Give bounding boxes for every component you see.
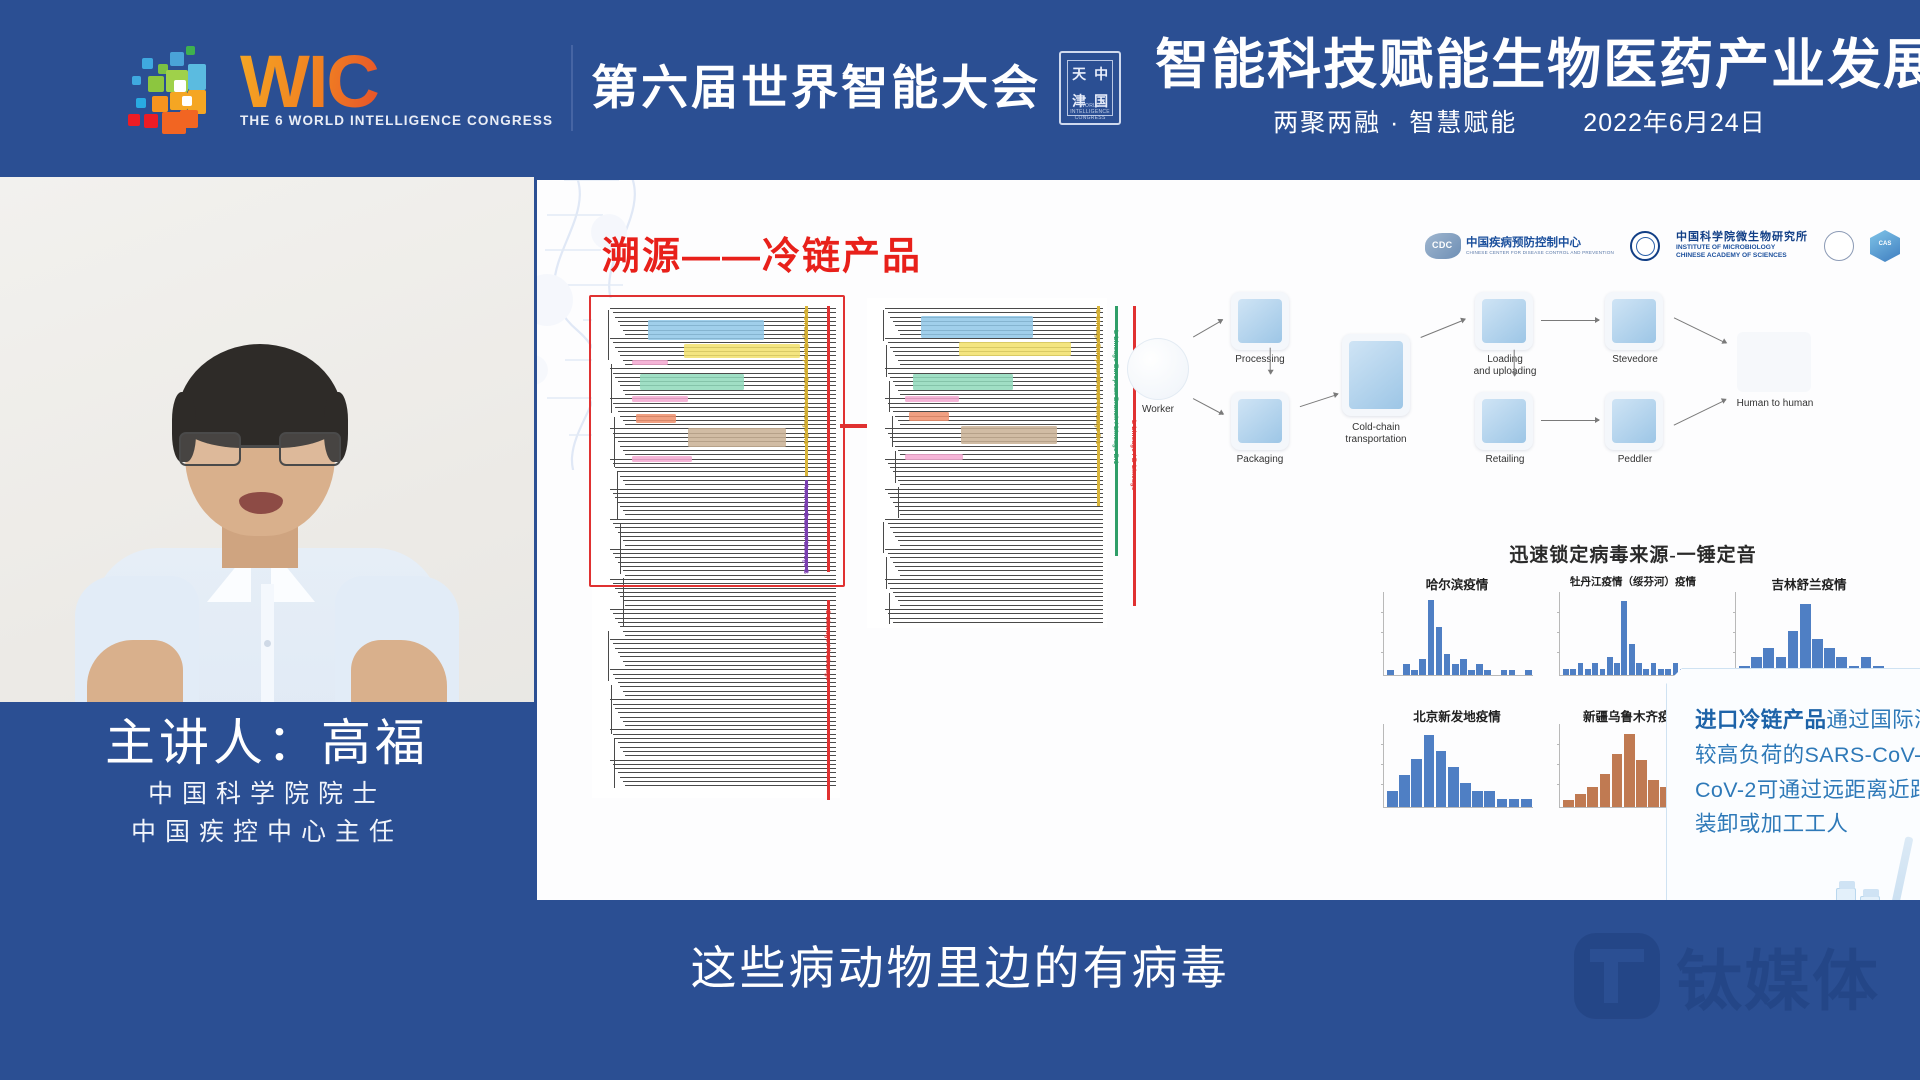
logo-pixel bbox=[144, 114, 158, 128]
crowd-node-icon bbox=[1737, 332, 1811, 392]
tree-leaf-label bbox=[888, 463, 1104, 464]
retailing-node-icon bbox=[1475, 392, 1533, 450]
summit-slogan: 两聚两融 · 智慧赋能 bbox=[1273, 103, 1517, 139]
tree-leaf-label bbox=[895, 446, 1103, 447]
secondary-seal-icon bbox=[1824, 231, 1854, 261]
flow-label-packaging: Packaging bbox=[1217, 454, 1303, 466]
tree-leaf-label bbox=[613, 613, 837, 614]
epi-bar bbox=[1587, 787, 1598, 807]
flow-label-processing: Processing bbox=[1217, 354, 1303, 366]
cdc-name-en: CHINESE CENTER FOR DISEASE CONTROL AND P… bbox=[1466, 250, 1614, 255]
tree-branch bbox=[611, 685, 612, 735]
epi-bar bbox=[1612, 754, 1623, 807]
lineage-bar bbox=[827, 306, 830, 572]
tmtpost-logo-icon bbox=[1574, 933, 1660, 1019]
tree-leaf-label bbox=[610, 760, 836, 761]
axis-tick bbox=[1557, 764, 1560, 765]
presentation-slide[interactable]: 溯源——冷链产品 CDC 中国疾病预防控制中心 CHINESE CENTER F… bbox=[537, 180, 1920, 940]
tree-leaf-label bbox=[895, 566, 1103, 567]
tree-branch bbox=[886, 557, 887, 588]
epi-caption-1: 牡丹江疫情（绥芬河）疫情 bbox=[1553, 574, 1713, 589]
logo-pixel bbox=[170, 52, 184, 66]
tree-leaf-label bbox=[618, 742, 837, 743]
epi-bar bbox=[1452, 664, 1459, 675]
lineage-label-1: America Branch / Lineage B bbox=[802, 484, 809, 574]
tree-clade-highlight bbox=[684, 344, 800, 358]
epi-caption-0: 哈尔滨疫情 bbox=[1377, 574, 1537, 593]
tree-branch bbox=[883, 522, 884, 553]
logo-pixel bbox=[142, 58, 153, 69]
tree-leaf-label bbox=[900, 605, 1103, 606]
epi-bar bbox=[1600, 669, 1606, 675]
flow-label-peddler: Peddler bbox=[1591, 454, 1679, 466]
epi-bar bbox=[1600, 774, 1611, 807]
packaging-node-icon bbox=[1231, 392, 1289, 450]
glasses-icon bbox=[179, 432, 341, 466]
tree-leaf-label bbox=[900, 575, 1103, 576]
tree-branch bbox=[614, 738, 615, 788]
tree-leaf-label bbox=[888, 403, 1104, 404]
epi-chart-1: 牡丹江疫情（绥芬河）疫情 bbox=[1553, 574, 1713, 682]
tianjin-emblem: 天 中 津 国 WORLD INTELLIGENCE CONGRESS bbox=[1059, 51, 1121, 125]
epi-bar bbox=[1636, 760, 1647, 807]
tree-branch bbox=[623, 578, 624, 628]
tree-clade-highlight bbox=[640, 374, 744, 390]
tree-leaf-label bbox=[895, 506, 1103, 507]
header-divider bbox=[571, 45, 573, 131]
subtitle-bar: 这些病动物里边的有病毒 钛媒体 bbox=[0, 900, 1920, 1080]
epi-bar bbox=[1476, 664, 1483, 675]
epi-chart-3: 北京新发地疫情 bbox=[1377, 706, 1537, 814]
axis-tick bbox=[1381, 632, 1384, 633]
epi-bar bbox=[1800, 604, 1811, 675]
axis-tick bbox=[1381, 744, 1384, 745]
institute-name-en2: CHINESE ACADEMY OF SCIENCES bbox=[1676, 252, 1808, 260]
tree-leaf-label bbox=[893, 502, 1104, 503]
epi-bar bbox=[1424, 735, 1435, 807]
epi-bar bbox=[1636, 663, 1642, 675]
tree-leaf-label bbox=[613, 463, 837, 464]
epi-bar bbox=[1525, 670, 1532, 675]
tree-leaf-label bbox=[613, 583, 837, 584]
epi-bar bbox=[1592, 663, 1598, 675]
tree-leaf-label bbox=[615, 738, 836, 739]
tree-branch bbox=[620, 524, 621, 574]
conference-name-cn: 第六届世界智能大会 bbox=[591, 63, 1041, 112]
epi-plot-2 bbox=[1735, 592, 1885, 676]
speaker-name: 主讲人：高福 bbox=[0, 712, 534, 775]
tree-leaf-label bbox=[615, 768, 836, 769]
epi-plot-1 bbox=[1559, 592, 1709, 676]
tree-leaf-label bbox=[618, 772, 837, 773]
epi-bar bbox=[1651, 663, 1657, 675]
tree-leaf-label bbox=[890, 407, 1103, 408]
tree-leaf-label bbox=[898, 510, 1104, 511]
tree-clade-highlight bbox=[632, 396, 688, 402]
tree-leaf-label bbox=[888, 493, 1104, 494]
flow-label-human: Human to human bbox=[1721, 398, 1829, 410]
epi-bar bbox=[1497, 799, 1508, 807]
flow-arrow bbox=[1541, 320, 1599, 321]
tmtpost-watermark: 钛媒体 bbox=[1574, 928, 1880, 1024]
tree-leaf-label bbox=[610, 699, 836, 700]
institute-name-cn: 中国科学院微生物研究所 bbox=[1676, 231, 1808, 244]
axis-tick bbox=[1381, 652, 1384, 653]
tree-leaf-label bbox=[888, 312, 1104, 313]
axis-tick bbox=[1381, 784, 1384, 785]
screen-root: WIC THE 6 WORLD INTELLIGENCE CONGRESS 第六… bbox=[0, 0, 1920, 1080]
cas-hex-icon bbox=[1870, 230, 1900, 262]
tree-leaf-label bbox=[620, 476, 836, 477]
tree-leaf-label bbox=[618, 652, 837, 653]
tree-leaf-label bbox=[625, 755, 836, 756]
tree-leaf-label bbox=[618, 592, 837, 593]
axis-tick bbox=[1557, 784, 1560, 785]
tree-leaf-label bbox=[900, 514, 1103, 515]
tree-leaf-label bbox=[620, 596, 836, 597]
wic-logo bbox=[118, 42, 222, 134]
epi-bar bbox=[1444, 654, 1451, 675]
tree-leaf-label bbox=[615, 618, 836, 619]
speaker-role-2: 中国疾控中心主任 bbox=[0, 813, 534, 852]
tree-leaf-label bbox=[623, 631, 837, 632]
tree-leaf-label bbox=[625, 605, 836, 606]
tree-leaf-label bbox=[625, 665, 836, 666]
logo-pixel bbox=[182, 96, 192, 106]
tree-clade-highlight bbox=[636, 414, 676, 423]
tree-leaf-label bbox=[893, 471, 1104, 472]
tree-leaf-label bbox=[890, 588, 1103, 589]
summit-title-block: 智能科技赋能生物医药产业发展峰会 两聚两融 · 智慧赋能 2022年6月24日 bbox=[1155, 36, 1920, 138]
tree-leaf-label bbox=[618, 682, 837, 683]
tianjin-caption: WORLD INTELLIGENCE CONGRESS bbox=[1061, 103, 1119, 121]
flow-arrow bbox=[1513, 350, 1514, 376]
china-cdc-logo: CDC 中国疾病预防控制中心 CHINESE CENTER FOR DISEAS… bbox=[1425, 233, 1614, 259]
tree-leaf-label bbox=[620, 656, 836, 657]
lineage-label-2b: L-Lineage European Branch / Lineage B.1 bbox=[1112, 330, 1119, 464]
epi-bar bbox=[1629, 644, 1635, 675]
tree-leaf-label bbox=[895, 596, 1103, 597]
tree-branch bbox=[883, 310, 884, 341]
wic-subtitle: THE 6 WORLD INTELLIGENCE CONGRESS bbox=[240, 113, 553, 128]
epi-plot-3 bbox=[1383, 724, 1533, 808]
tree-clade-highlight bbox=[632, 456, 692, 462]
summit-date: 2022年6月24日 bbox=[1583, 103, 1765, 139]
tree-leaf-label bbox=[623, 450, 837, 451]
worker-node-icon bbox=[1127, 338, 1189, 400]
tree-leaf-label bbox=[893, 532, 1104, 533]
epi-bar bbox=[1665, 669, 1671, 675]
epi-bar bbox=[1403, 664, 1410, 675]
epi-bar bbox=[1460, 783, 1471, 807]
tree-leaf-label bbox=[898, 360, 1104, 361]
tree-branch bbox=[892, 416, 893, 447]
epi-bar bbox=[1448, 767, 1459, 807]
tree-leaf-label bbox=[885, 489, 1103, 490]
tree-leaf-label bbox=[885, 549, 1103, 550]
tree-branch bbox=[617, 471, 618, 521]
callout-text: 进口冷链产品通过国际海洋渔业贸易受到较高负荷的SARS-CoV-2污染，SARS… bbox=[1695, 703, 1920, 842]
tree-leaf-label bbox=[618, 712, 837, 713]
epi-bar bbox=[1521, 799, 1532, 807]
event-header-banner: WIC THE 6 WORLD INTELLIGENCE CONGRESS 第六… bbox=[0, 0, 1920, 175]
epi-bar bbox=[1387, 791, 1398, 807]
tree-leaf-label bbox=[898, 450, 1104, 451]
cdc-abbr: CDC bbox=[1432, 240, 1452, 250]
callout-lead: 进口冷链产品 bbox=[1695, 708, 1826, 732]
epi-chart-2: 吉林舒兰疫情 bbox=[1729, 574, 1889, 682]
tree-leaf-label bbox=[620, 626, 836, 627]
tree-leaf-label bbox=[893, 622, 1104, 623]
epi-bar bbox=[1468, 670, 1475, 675]
epi-caption-3: 北京新发地疫情 bbox=[1377, 706, 1537, 725]
logo-pixel bbox=[152, 96, 168, 112]
logo-pixel bbox=[174, 80, 186, 92]
epi-bar bbox=[1509, 799, 1520, 807]
epi-bar bbox=[1509, 670, 1516, 675]
epi-bar bbox=[1563, 800, 1574, 807]
tree-leaf-label bbox=[890, 527, 1103, 528]
axis-tick bbox=[1733, 612, 1736, 613]
tree-leaf-label bbox=[898, 540, 1104, 541]
epi-bar bbox=[1399, 775, 1410, 807]
wic-word: WIC bbox=[240, 47, 553, 117]
slide-title: 溯源——冷链产品 bbox=[602, 225, 922, 280]
flow-label-transport: Cold-chain transportation bbox=[1327, 422, 1425, 445]
tree-leaf-label bbox=[610, 639, 836, 640]
institute-seal-icon bbox=[1630, 231, 1660, 261]
epidemic-section-title: 迅速锁定病毒来源-一锤定音 bbox=[1377, 540, 1889, 567]
tree-leaf-label bbox=[610, 729, 836, 730]
tree-branch bbox=[608, 631, 609, 681]
tree-leaf-label bbox=[623, 661, 837, 662]
flow-arrow bbox=[1193, 398, 1224, 415]
tree-clade-highlight bbox=[961, 426, 1057, 444]
tianjin-char-1: 天 bbox=[1068, 61, 1090, 88]
tree-leaf-label bbox=[888, 583, 1104, 584]
tree-leaf-label bbox=[900, 545, 1103, 546]
epi-bar bbox=[1624, 734, 1635, 807]
tree-leaf-label bbox=[618, 622, 837, 623]
tree-leaf-label bbox=[623, 600, 837, 601]
flow-arrow bbox=[1300, 394, 1338, 408]
tree-leaf-label bbox=[890, 497, 1103, 498]
tree-clade-highlight bbox=[909, 412, 949, 421]
flow-arrow bbox=[1674, 399, 1727, 426]
epi-bar bbox=[1658, 669, 1664, 675]
epi-bar bbox=[1460, 659, 1467, 675]
tree-leaf-label bbox=[890, 557, 1103, 558]
tree-clade-highlight bbox=[905, 396, 959, 402]
tree-leaf-label bbox=[885, 579, 1103, 580]
loading-node-icon bbox=[1475, 292, 1533, 350]
tree-leaf-label bbox=[625, 695, 836, 696]
tree-leaf-label bbox=[618, 471, 837, 472]
epi-bar bbox=[1411, 670, 1418, 675]
logo-pixel bbox=[148, 76, 164, 92]
tree-leaf-label bbox=[885, 338, 1103, 339]
cold-chain-flowchart: Worker Processing Packaging Cold-chain t… bbox=[1127, 288, 1897, 488]
epi-bar bbox=[1428, 600, 1435, 675]
logo-pixel bbox=[188, 64, 206, 90]
axis-tick bbox=[1733, 632, 1736, 633]
epi-bar bbox=[1614, 663, 1620, 675]
tree-leaf-label bbox=[620, 717, 836, 718]
tree-leaf-label bbox=[625, 575, 836, 576]
tree-clade-highlight bbox=[648, 320, 764, 340]
tree-branch bbox=[886, 345, 887, 376]
stevedore-node-icon bbox=[1605, 292, 1663, 350]
axis-tick bbox=[1557, 744, 1560, 745]
epi-bar bbox=[1411, 759, 1422, 807]
tree-leaf-label bbox=[615, 467, 836, 468]
tree-branch bbox=[889, 381, 890, 412]
tree-leaf-label bbox=[623, 691, 837, 692]
transport-node-icon bbox=[1342, 334, 1410, 416]
tree-leaf-label bbox=[615, 678, 836, 679]
lineage-label-2: L-Lineage European Branch / Lineage B.1 bbox=[1094, 310, 1101, 444]
tree-branch bbox=[611, 364, 612, 414]
axis-tick bbox=[1733, 652, 1736, 653]
conference-name-block: 第六届世界智能大会 bbox=[591, 63, 1041, 112]
institute-microbiology-logo: 中国科学院微生物研究所 INSTITUTE OF MICROBIOLOGY CH… bbox=[1676, 231, 1808, 260]
tree-leaf-label bbox=[898, 570, 1104, 571]
epi-bar bbox=[1570, 669, 1576, 675]
tree-leaf-label bbox=[885, 308, 1103, 309]
tree-leaf-label bbox=[613, 704, 837, 705]
axis-tick bbox=[1557, 632, 1560, 633]
flow-arrow bbox=[1269, 348, 1270, 374]
tree-leaf-label bbox=[900, 364, 1103, 365]
summit-title: 智能科技赋能生物医药产业发展峰会 bbox=[1155, 36, 1920, 94]
epi-bar bbox=[1578, 663, 1584, 675]
epi-bar bbox=[1648, 780, 1659, 807]
tree-clade-highlight bbox=[632, 360, 668, 365]
tree-leaf-label bbox=[893, 562, 1104, 563]
tree-leaf-label bbox=[613, 734, 837, 735]
lineage-label-0: L-Lineage European Branch / Lineage B.1 bbox=[802, 310, 809, 444]
flow-label-loading: Loading and uploading bbox=[1457, 354, 1553, 377]
axis-tick bbox=[1557, 612, 1560, 613]
epi-bar bbox=[1472, 791, 1483, 807]
logo-pixel bbox=[132, 76, 141, 85]
lineage-label-4: S-Lineage / A-Lineage bbox=[824, 610, 831, 681]
tree-clade-highlight bbox=[921, 316, 1033, 338]
phylogenetic-tree-right bbox=[867, 298, 1107, 628]
tree-leaf-label bbox=[885, 519, 1103, 520]
tree-leaf-label bbox=[898, 480, 1104, 481]
logo-pixel bbox=[136, 98, 146, 108]
flow-arrow bbox=[1193, 320, 1223, 338]
processing-node-icon bbox=[1231, 292, 1289, 350]
tree-leaf-label bbox=[613, 764, 837, 765]
epi-bar bbox=[1563, 669, 1569, 675]
tree-leaf-label bbox=[895, 476, 1103, 477]
tmtpost-wordmark: 钛媒体 bbox=[1676, 928, 1880, 1024]
shirt-button bbox=[264, 640, 271, 647]
tianjin-char-2: 中 bbox=[1090, 61, 1112, 88]
tree-leaf-label bbox=[610, 308, 836, 309]
epi-chart-0: 哈尔滨疫情 bbox=[1377, 574, 1537, 682]
epi-plot-0 bbox=[1383, 592, 1533, 676]
tree-leaf-label bbox=[623, 480, 837, 481]
tree-leaf-label bbox=[888, 613, 1104, 614]
tree-branch bbox=[608, 310, 609, 360]
flow-arrow bbox=[1420, 319, 1465, 338]
tree-leaf-label bbox=[625, 725, 836, 726]
epi-bar bbox=[1575, 794, 1586, 807]
epi-bar bbox=[1419, 659, 1426, 675]
logo-pixel bbox=[128, 114, 140, 126]
tree-leaf-label bbox=[620, 747, 836, 748]
tree-clade-highlight bbox=[913, 374, 1013, 390]
flow-label-retailing: Retailing bbox=[1461, 454, 1549, 466]
epi-bar bbox=[1501, 670, 1508, 675]
tree-leaf-label bbox=[900, 424, 1103, 425]
epi-caption-2: 吉林舒兰疫情 bbox=[1729, 574, 1889, 593]
epi-bar bbox=[1484, 670, 1491, 675]
tree-leaf-label bbox=[895, 536, 1103, 537]
tree-leaf-label bbox=[898, 600, 1104, 601]
tree-leaf-label bbox=[620, 777, 836, 778]
tree-leaf-label bbox=[610, 609, 836, 610]
tree-clade-highlight bbox=[959, 342, 1071, 356]
tree-leaf-label bbox=[885, 368, 1103, 369]
institute-name-en1: INSTITUTE OF MICROBIOLOGY bbox=[1676, 244, 1808, 252]
tree-leaf-label bbox=[890, 618, 1103, 619]
tree-clade-highlight bbox=[905, 454, 963, 460]
epi-bar bbox=[1436, 627, 1443, 675]
axis-tick bbox=[1557, 652, 1560, 653]
epi-bar bbox=[1436, 751, 1447, 807]
logo-pixel bbox=[180, 110, 198, 128]
cdc-name-cn: 中国疾病预防控制中心 bbox=[1466, 237, 1614, 250]
epi-bar bbox=[1387, 670, 1394, 675]
tree-leaf-label bbox=[625, 635, 836, 636]
tree-leaf-label bbox=[623, 721, 837, 722]
tree-leaf-label bbox=[613, 643, 837, 644]
tree-leaf-label bbox=[888, 553, 1104, 554]
tree-leaf-label bbox=[610, 579, 836, 580]
tree-leaf-label bbox=[610, 669, 836, 670]
epi-bar bbox=[1585, 669, 1591, 675]
peddler-node-icon bbox=[1605, 392, 1663, 450]
tree-leaf-label bbox=[615, 648, 836, 649]
epi-bar bbox=[1484, 791, 1495, 807]
tree-leaf-label bbox=[893, 592, 1104, 593]
flow-arrow bbox=[1541, 420, 1599, 421]
axis-tick bbox=[1381, 764, 1384, 765]
tree-branch bbox=[898, 487, 899, 518]
tree-clade-highlight bbox=[688, 428, 786, 447]
tree-leaf-label bbox=[620, 686, 836, 687]
tree-branch bbox=[895, 451, 896, 482]
tree-leaf-label bbox=[615, 708, 836, 709]
speaker-info-band: 主讲人：高福 中国科学院院士 中国疾控中心主任 bbox=[0, 702, 534, 900]
speaker-role-1: 中国科学院院士 bbox=[0, 775, 534, 814]
wic-wordmark: WIC THE 6 WORLD INTELLIGENCE CONGRESS bbox=[240, 47, 553, 128]
flow-label-worker: Worker bbox=[1123, 404, 1193, 416]
tree-leaf-label bbox=[623, 751, 837, 752]
tree-leaf-label bbox=[623, 781, 837, 782]
tree-leaf-label bbox=[625, 785, 836, 786]
logo-pixel bbox=[186, 46, 195, 55]
tree-branch bbox=[889, 593, 890, 624]
axis-tick bbox=[1381, 612, 1384, 613]
flow-label-stevedore: Stevedore bbox=[1591, 354, 1679, 366]
epi-bar bbox=[1607, 657, 1613, 675]
tree-branch bbox=[614, 417, 615, 467]
